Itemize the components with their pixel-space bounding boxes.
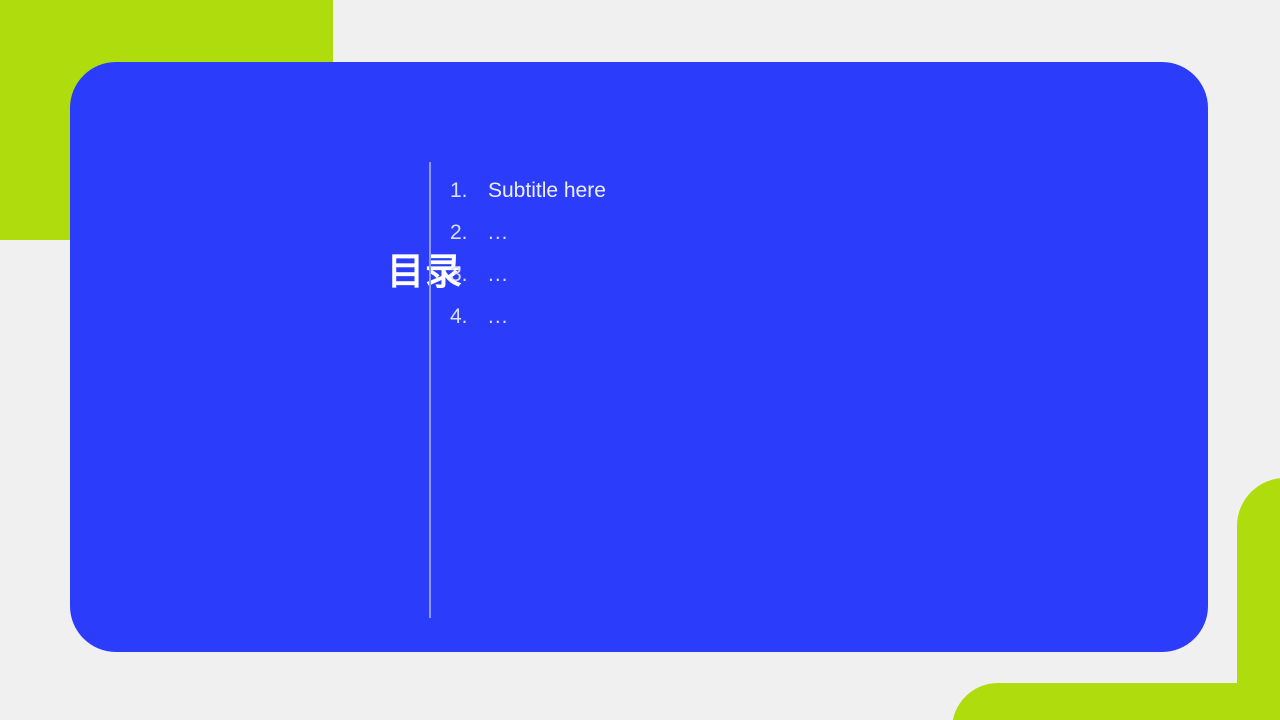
slide-canvas: 目录 1. Subtitle here 2. ... 3. ... 4. bbox=[0, 0, 1280, 720]
list-item-label: ... bbox=[488, 217, 509, 248]
decorative-shape-bottom bbox=[952, 683, 1280, 720]
list-item-number: 2. bbox=[450, 217, 488, 248]
list-item-label: ... bbox=[488, 259, 509, 290]
card-content: 目录 1. Subtitle here 2. ... 3. ... 4. bbox=[70, 62, 1208, 652]
table-of-contents-list: 1. Subtitle here 2. ... 3. ... 4. ... bbox=[450, 175, 606, 343]
page-title: 目录 bbox=[316, 250, 463, 294]
list-item-number: 3. bbox=[450, 259, 488, 290]
list-item[interactable]: 3. ... bbox=[450, 259, 606, 301]
list-item-number: 1. bbox=[450, 175, 488, 206]
vertical-divider bbox=[429, 162, 431, 618]
content-card: 目录 1. Subtitle here 2. ... 3. ... 4. bbox=[70, 62, 1208, 652]
list-item[interactable]: 1. Subtitle here bbox=[450, 175, 606, 217]
list-item-label: Subtitle here bbox=[488, 175, 606, 206]
list-item[interactable]: 2. ... bbox=[450, 217, 606, 259]
list-item-number: 4. bbox=[450, 301, 488, 332]
list-item[interactable]: 4. ... bbox=[450, 301, 606, 343]
list-item-label: ... bbox=[488, 301, 509, 332]
